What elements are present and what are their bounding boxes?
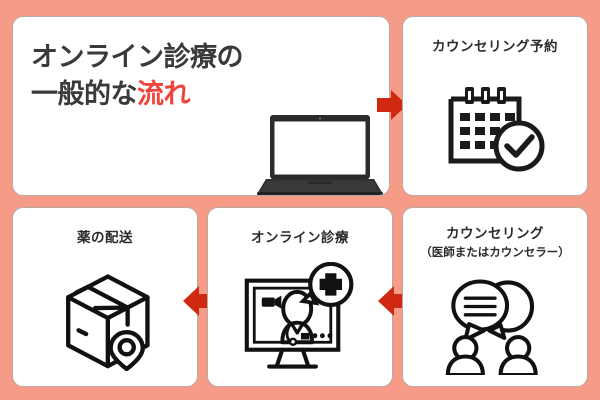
step-label-booking: カウンセリング予約 <box>403 39 587 56</box>
step-card-telemedicine: オンライン診療 <box>207 207 393 387</box>
step-card-delivery: 薬の配送 <box>12 207 198 387</box>
step-label-counseling: カウンセリング <box>403 226 587 243</box>
monitor-doctor-icon <box>208 252 392 384</box>
page-title: オンライン診療の 一般的な流れ <box>31 39 271 114</box>
step-card-counseling: カウンセリング （医師またはカウンセラー） <box>402 207 588 387</box>
title-card: オンライン診療の 一般的な流れ <box>12 16 390 196</box>
title-line-2: 一般的な流れ <box>31 76 271 113</box>
calendar-check-icon <box>403 65 587 191</box>
title-line-2-plain: 一般的な <box>31 79 137 109</box>
step-sublabel-counseling: （医師またはカウンセラー） <box>403 246 587 260</box>
title-line-1: オンライン診療の <box>31 39 271 76</box>
speech-bubbles-people-icon <box>403 266 587 384</box>
step-label-delivery: 薬の配送 <box>13 230 197 247</box>
step-card-booking: カウンセリング予約 <box>402 16 588 196</box>
arrow-head <box>378 286 394 316</box>
title-line-2-accent: 流れ <box>137 79 190 109</box>
laptop-icon <box>249 109 390 196</box>
package-location-pin-icon <box>13 252 197 384</box>
step-label-telemedicine: オンライン診療 <box>208 230 392 247</box>
infographic-root: オンライン診療の 一般的な流れ カウンセリング予約 <box>0 0 600 400</box>
arrow-head <box>183 286 199 316</box>
